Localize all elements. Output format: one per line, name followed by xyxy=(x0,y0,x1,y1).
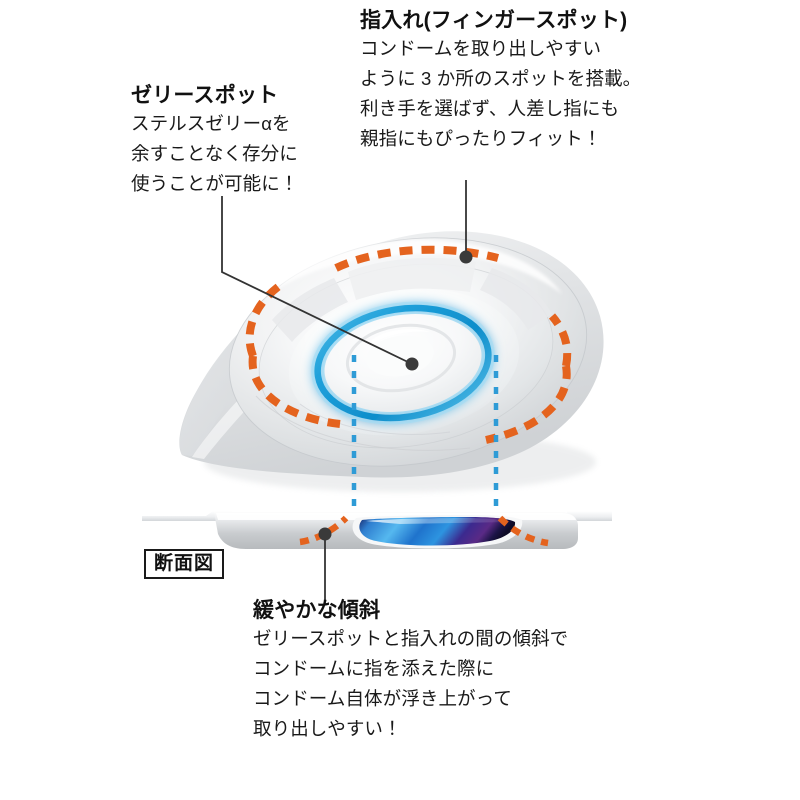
leader-dot-finger-spot xyxy=(460,251,473,264)
callout-finger-spot-title: 指入れ(フィンガースポット) xyxy=(360,8,641,34)
callout-jelly-spot-title: ゼリースポット xyxy=(131,83,298,109)
leader-dot-jelly-spot xyxy=(406,358,419,371)
callout-jelly-spot-body: ステルスゼリーαを 余すことなく存分に 使うことが可能に！ xyxy=(131,109,298,199)
callout-finger-spot-line-4: 親指にもぴったりフィット！ xyxy=(360,124,641,154)
callout-gentle-slope-body: ゼリースポットと指入れの間の傾斜で コンドームに指を添えた際に コンドーム自体が… xyxy=(253,624,568,744)
callout-gentle-slope-line-1: ゼリースポットと指入れの間の傾斜で xyxy=(253,624,568,654)
callout-gentle-slope-line-3: コンドーム自体が浮き上がって xyxy=(253,684,568,714)
leader-dot-gentle-slope xyxy=(319,528,332,541)
callout-gentle-slope: 緩やかな傾斜 ゼリースポットと指入れの間の傾斜で コンドームに指を添えた際に コ… xyxy=(253,598,568,744)
callout-jelly-spot-line-1: ステルスゼリーαを xyxy=(131,109,298,139)
callout-jelly-spot: ゼリースポット ステルスゼリーαを 余すことなく存分に 使うことが可能に！ xyxy=(131,83,298,199)
callout-jelly-spot-line-3: 使うことが可能に！ xyxy=(131,169,298,199)
callout-finger-spot-line-3: 利き手を選ばず、人差し指にも xyxy=(360,94,641,124)
callout-gentle-slope-title: 緩やかな傾斜 xyxy=(253,598,568,624)
callout-gentle-slope-line-2: コンドームに指を添えた際に xyxy=(253,654,568,684)
callout-finger-spot: 指入れ(フィンガースポット) コンドームを取り出しやすい ように 3 か所のスポ… xyxy=(360,8,641,154)
callout-finger-spot-line-2: ように 3 か所のスポットを搭載。 xyxy=(360,64,641,94)
callout-finger-spot-body: コンドームを取り出しやすい ように 3 か所のスポットを搭載。 利き手を選ばず、… xyxy=(360,34,641,154)
case-top-view xyxy=(179,213,603,492)
callout-finger-spot-line-1: コンドームを取り出しやすい xyxy=(360,34,641,64)
callout-jelly-spot-line-2: 余すことなく存分に xyxy=(131,139,298,169)
cross-section-label: 断面図 xyxy=(144,549,224,579)
product-feature-diagram: ゼリースポット ステルスゼリーαを 余すことなく存分に 使うことが可能に！ 指入… xyxy=(0,0,800,800)
callout-gentle-slope-line-4: 取り出しやすい！ xyxy=(253,714,568,744)
case-cross-section xyxy=(142,511,612,549)
